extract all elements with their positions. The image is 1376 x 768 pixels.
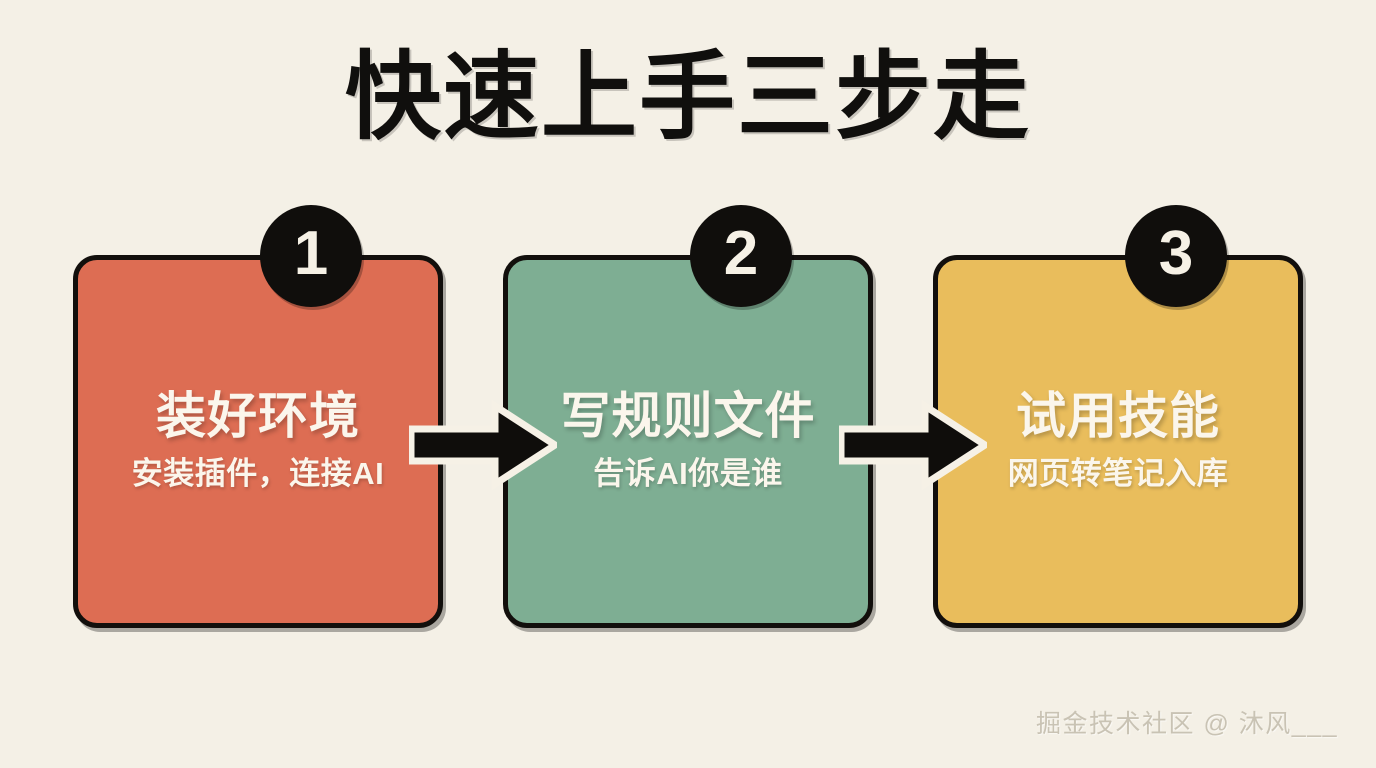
arrow-right-icon-1 [409,400,557,490]
step-card-3-title: 试用技能 [1008,388,1229,444]
step-badge-2-number: 2 [724,223,758,285]
step-card-3-content: 试用技能 网页转笔记入库 [998,388,1239,492]
step-card-3[interactable]: 试用技能 网页转笔记入库 [933,255,1303,628]
step-card-1-title: 装好环境 [132,388,385,444]
step-badge-3: 3 [1125,205,1227,307]
step-card-2-title: 写规则文件 [561,388,816,444]
page-title: 快速上手三步走 [345,48,1031,149]
step-card-1[interactable]: 装好环境 安装插件，连接AI [73,255,443,628]
watermark: 掘金技术社区 @ 沐风___ [1036,704,1338,740]
step-badge-2: 2 [690,205,792,307]
step-badge-1-number: 1 [294,223,328,285]
step-card-1-subtitle: 安装插件，连接AI [132,456,385,492]
step-card-3-subtitle: 网页转笔记入库 [1008,456,1229,492]
step-badge-3-number: 3 [1159,223,1193,285]
step-card-2-subtitle: 告诉AI你是谁 [561,456,816,492]
steps-container: 装好环境 安装插件，连接AI 写规则文件 告诉AI你是谁 试用技能 网页转笔记入… [73,255,1303,628]
step-card-1-content: 装好环境 安装插件，连接AI [122,388,395,492]
step-card-2-content: 写规则文件 告诉AI你是谁 [551,388,826,492]
page-title-container: 快速上手三步走 [0,48,1376,149]
step-badge-1: 1 [260,205,362,307]
step-card-2[interactable]: 写规则文件 告诉AI你是谁 [503,255,873,628]
arrow-right-icon-2 [839,400,987,490]
